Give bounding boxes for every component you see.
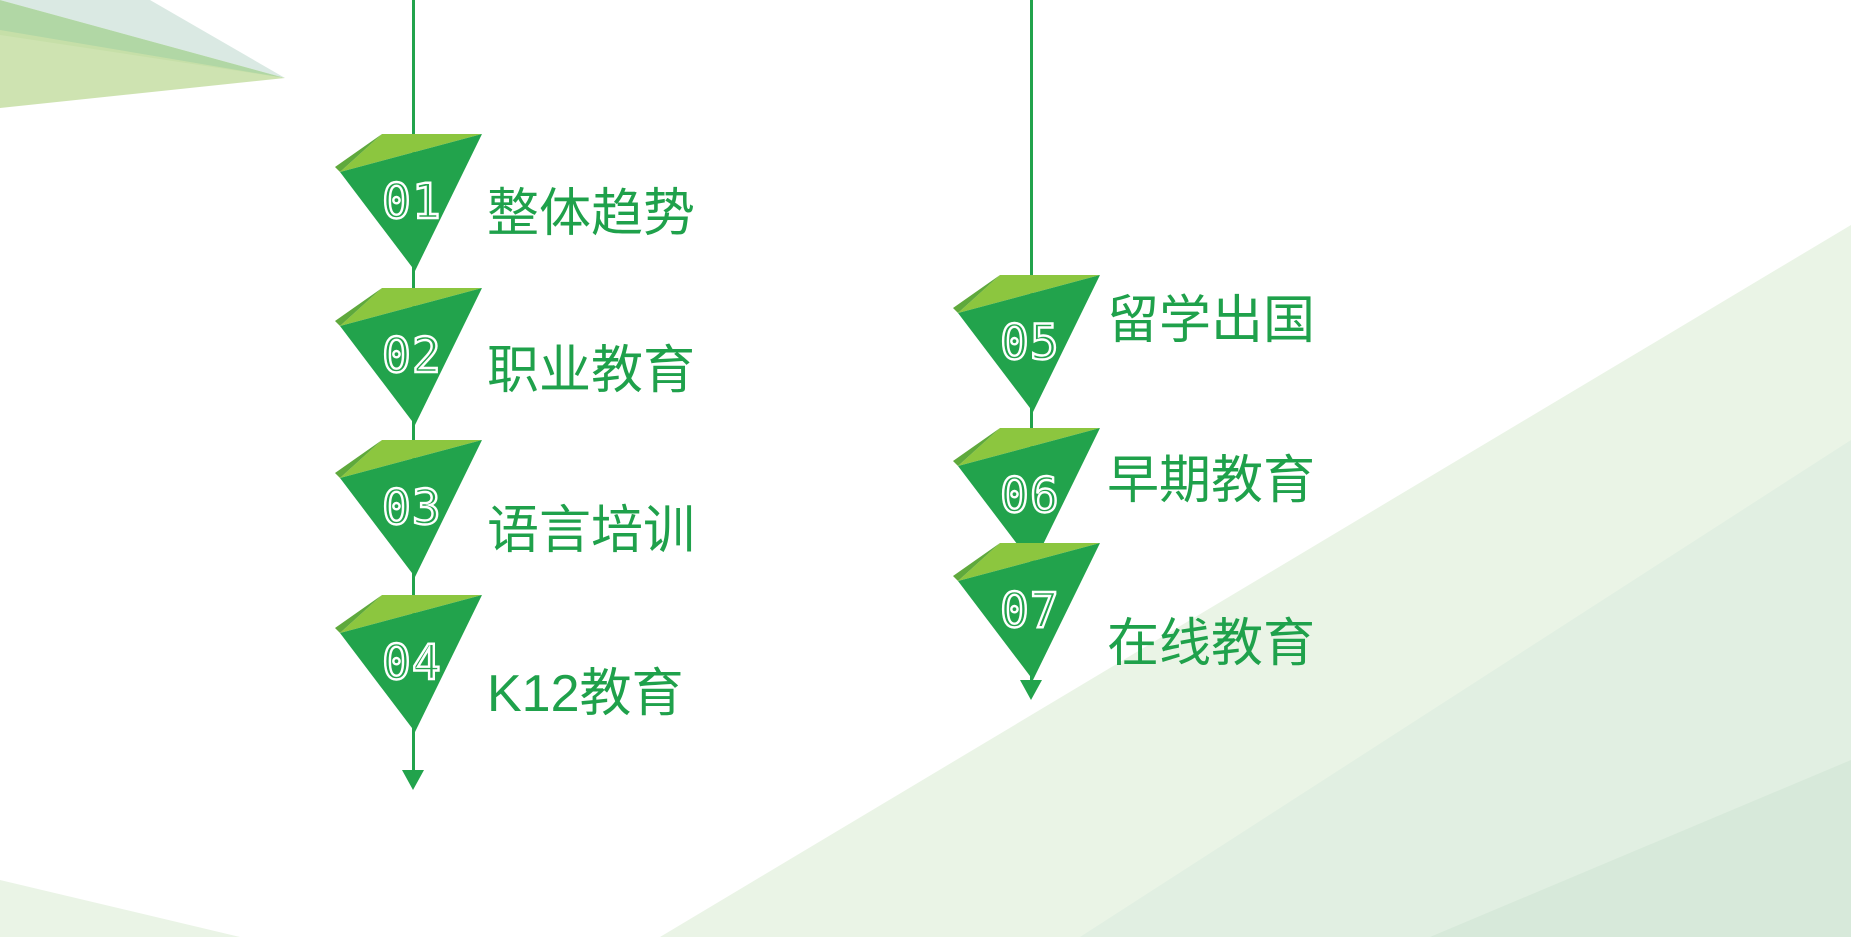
list-item-04[interactable]: 04 [330, 592, 490, 732]
list-item-number-03: 03 [382, 484, 442, 532]
background-decoration [0, 0, 1851, 937]
fan-triangle-pale [0, 30, 285, 108]
list-item-label-05[interactable]: 留学出国 [1107, 295, 1315, 347]
list-item-number-06: 06 [1000, 472, 1060, 520]
list-item-label-02[interactable]: 职业教育 [487, 345, 695, 397]
left-column-down-arrow-icon [402, 770, 424, 790]
list-item-label-07[interactable]: 在线教育 [1107, 618, 1315, 670]
list-item-05[interactable]: 05 [948, 272, 1108, 412]
right-column-down-arrow-icon [1020, 680, 1042, 700]
list-item-label-06[interactable]: 早期教育 [1107, 455, 1315, 507]
list-item-number-04: 04 [382, 639, 442, 687]
list-item-number-02: 02 [382, 332, 442, 380]
list-item-02[interactable]: 02 [330, 285, 490, 425]
list-item-number-07: 07 [1000, 587, 1060, 635]
list-item-07[interactable]: 07 [948, 540, 1108, 680]
list-item-01[interactable]: 01 [330, 131, 490, 271]
slide-canvas: 01 整体趋势 02 职业教育 03 语言培训 [0, 0, 1851, 937]
bottom-right-wedge-soft [1430, 760, 1851, 937]
list-item-label-03[interactable]: 语言培训 [487, 505, 695, 557]
list-item-03[interactable]: 03 [330, 437, 490, 577]
fan-triangle-mint [0, 0, 285, 78]
fan-triangle-mid [0, 0, 285, 78]
bottom-right-wedge-mint [1080, 440, 1851, 937]
list-item-label-04[interactable]: K12教育 [487, 668, 684, 720]
list-item-number-01: 01 [382, 178, 442, 226]
list-item-label-01[interactable]: 整体趋势 [487, 188, 695, 240]
list-item-number-05: 05 [1000, 319, 1060, 367]
bottom-left-wedge [0, 880, 240, 937]
